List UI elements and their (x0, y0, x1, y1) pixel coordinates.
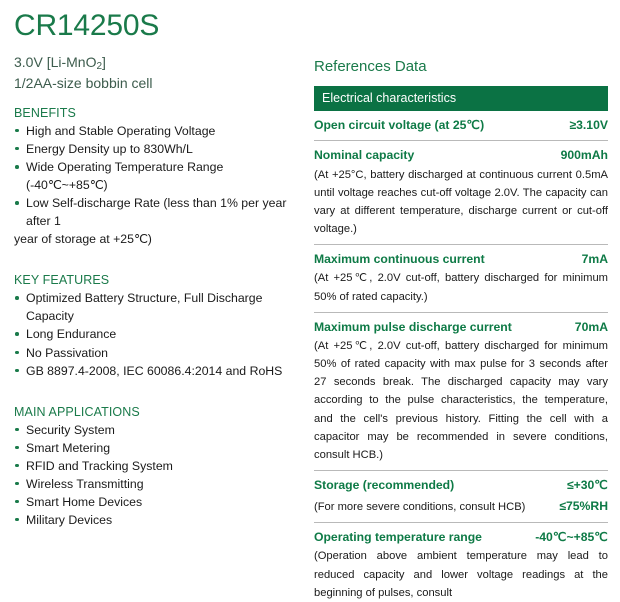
subtitle-chemistry: 3.0V [Li-MnO2] (14, 52, 302, 74)
table-row-value: 7mA (582, 250, 608, 268)
table-row-label: Maximum pulse discharge current (314, 318, 512, 336)
section-heading-key-features: KEY FEATURES (14, 273, 302, 287)
table-row: Maximum pulse discharge current 70mA (At… (314, 313, 608, 464)
main-applications-list: Security System Smart Metering RFID and … (14, 421, 302, 529)
benefits-list: High and Stable Operating Voltage Energy… (14, 122, 302, 230)
section-benefits: BENEFITS High and Stable Operating Volta… (14, 106, 302, 248)
bullet-dot-icon (15, 369, 19, 373)
table-row-label: Operating temperature range (314, 528, 482, 546)
list-item-label: High and Stable Operating Voltage (26, 124, 215, 138)
bullet-dot-icon (15, 464, 19, 468)
benefits-continuation-line: year of storage at +25℃) (14, 230, 302, 248)
table-row-value: ≤+30℃ (567, 476, 608, 494)
list-item-label: Long Endurance (26, 327, 116, 341)
table-row-note: (Operation above ambient temperature may… (314, 547, 608, 601)
bullet-dot-icon (15, 201, 19, 205)
table-row-main: Nominal capacity 900mAh (314, 146, 608, 164)
table-row-sub-note: (For more severe conditions, consult HCB… (314, 499, 525, 516)
section-key-features: KEY FEATURES Optimized Battery Structure… (14, 273, 302, 379)
spacer (14, 380, 302, 394)
table-row: Maximum continuous current 7mA (At +25℃,… (314, 245, 608, 306)
table-row-label: Maximum continuous current (314, 250, 485, 268)
table-row-note: (At +25℃, 2.0V cut-off, battery discharg… (314, 337, 608, 464)
subtitle-chemistry-subscript: 2 (96, 61, 102, 72)
list-item-label: Smart Metering (26, 441, 110, 455)
key-features-list: Optimized Battery Structure, Full Discha… (14, 289, 302, 379)
table-row-value: ≥3.10V (569, 116, 608, 134)
list-item-label: Security System (26, 423, 115, 437)
bullet-dot-icon (15, 428, 19, 432)
table-row-label: Storage (recommended) (314, 476, 454, 494)
table-row-main: Storage (recommended) ≤+30℃ (314, 476, 608, 494)
list-item-label: RFID and Tracking System (26, 459, 173, 473)
list-item: Energy Density up to 830Wh/L (14, 140, 302, 158)
list-item-label: No Passivation (26, 346, 108, 360)
table-row-sub: (For more severe conditions, consult HCB… (314, 497, 608, 516)
list-item: RFID and Tracking System (14, 457, 302, 475)
references-data-title: References Data (314, 58, 608, 75)
table-row-value: 70mA (575, 318, 608, 336)
table-row: Nominal capacity 900mAh (At +25°C, batte… (314, 141, 608, 238)
subtitle-chemistry-suffix: ] (102, 54, 106, 70)
right-column: References Data Electrical characteristi… (306, 0, 620, 523)
list-item-label: Military Devices (26, 513, 112, 527)
table-row: Open circuit voltage (at 25℃) ≥3.10V (314, 111, 608, 134)
list-item-label: GB 8897.4-2008, IEC 60086.4:2014 and RoH… (26, 364, 282, 378)
table-row-note: (At +25°C, battery discharged at continu… (314, 166, 608, 239)
table-row-storage: Storage (recommended) ≤+30℃ (For more se… (314, 471, 608, 516)
table-row-note: (At +25℃, 2.0V cut-off, battery discharg… (314, 269, 608, 305)
list-item: Smart Metering (14, 439, 302, 457)
list-item: Long Endurance (14, 325, 302, 343)
subtitle-chemistry-prefix: 3.0V [Li-MnO (14, 54, 96, 70)
table-row-main: Maximum continuous current 7mA (314, 250, 608, 268)
bullet-dot-icon (15, 147, 19, 151)
list-item-label: Optimized Battery Structure, Full Discha… (26, 291, 262, 323)
table-row-operating-temperature: Operating temperature range -40℃~+85℃ (O… (314, 523, 608, 602)
list-item-label: Wireless Transmitting (26, 477, 144, 491)
list-item: GB 8897.4-2008, IEC 60086.4:2014 and RoH… (14, 362, 302, 380)
table-header-electrical-characteristics: Electrical characteristics (314, 86, 608, 111)
list-item: Wireless Transmitting (14, 475, 302, 493)
bullet-dot-icon (15, 129, 19, 133)
list-item: Security System (14, 421, 302, 439)
table-row-main: Open circuit voltage (at 25℃) ≥3.10V (314, 116, 608, 134)
bullet-dot-icon (15, 332, 19, 336)
bullet-dot-icon (15, 351, 19, 355)
bullet-dot-icon (15, 500, 19, 504)
list-item: Wide Operating Temperature Range (-40℃~+… (14, 158, 302, 194)
bullet-dot-icon (15, 482, 19, 486)
list-item: High and Stable Operating Voltage (14, 122, 302, 140)
table-row-main: Operating temperature range -40℃~+85℃ (314, 528, 608, 546)
list-item-label: Smart Home Devices (26, 495, 142, 509)
list-item-label: Energy Density up to 830Wh/L (26, 142, 193, 156)
table-row-value: -40℃~+85℃ (535, 528, 608, 546)
table-row-main: Maximum pulse discharge current 70mA (314, 318, 608, 336)
table-row-label: Open circuit voltage (at 25℃) (314, 116, 484, 134)
datasheet-page: CR14250S 3.0V [Li-MnO2] 1/2AA-size bobbi… (0, 0, 620, 523)
table-row-value: 900mAh (561, 146, 608, 164)
section-main-applications: MAIN APPLICATIONS Security System Smart … (14, 405, 302, 529)
page-title: CR14250S (14, 10, 302, 42)
subtitle-form-factor: 1/2AA-size bobbin cell (14, 73, 302, 95)
left-column: CR14250S 3.0V [Li-MnO2] 1/2AA-size bobbi… (0, 0, 306, 523)
list-item: Optimized Battery Structure, Full Discha… (14, 289, 302, 325)
list-item: Military Devices (14, 511, 302, 529)
list-item: Low Self-discharge Rate (less than 1% pe… (14, 194, 302, 230)
list-item-label: Wide Operating Temperature Range (-40℃~+… (26, 160, 223, 192)
list-item: Smart Home Devices (14, 493, 302, 511)
list-item-label: Low Self-discharge Rate (less than 1% pe… (26, 196, 286, 228)
bullet-dot-icon (15, 165, 19, 169)
bullet-dot-icon (15, 446, 19, 450)
table-row-label: Nominal capacity (314, 146, 414, 164)
bullet-dot-icon (15, 296, 19, 300)
section-heading-benefits: BENEFITS (14, 106, 302, 120)
section-heading-main-applications: MAIN APPLICATIONS (14, 405, 302, 419)
spacer (14, 248, 302, 262)
list-item: No Passivation (14, 344, 302, 362)
table-row-sub-value: ≤75%RH (559, 497, 608, 515)
bullet-dot-icon (15, 518, 19, 522)
